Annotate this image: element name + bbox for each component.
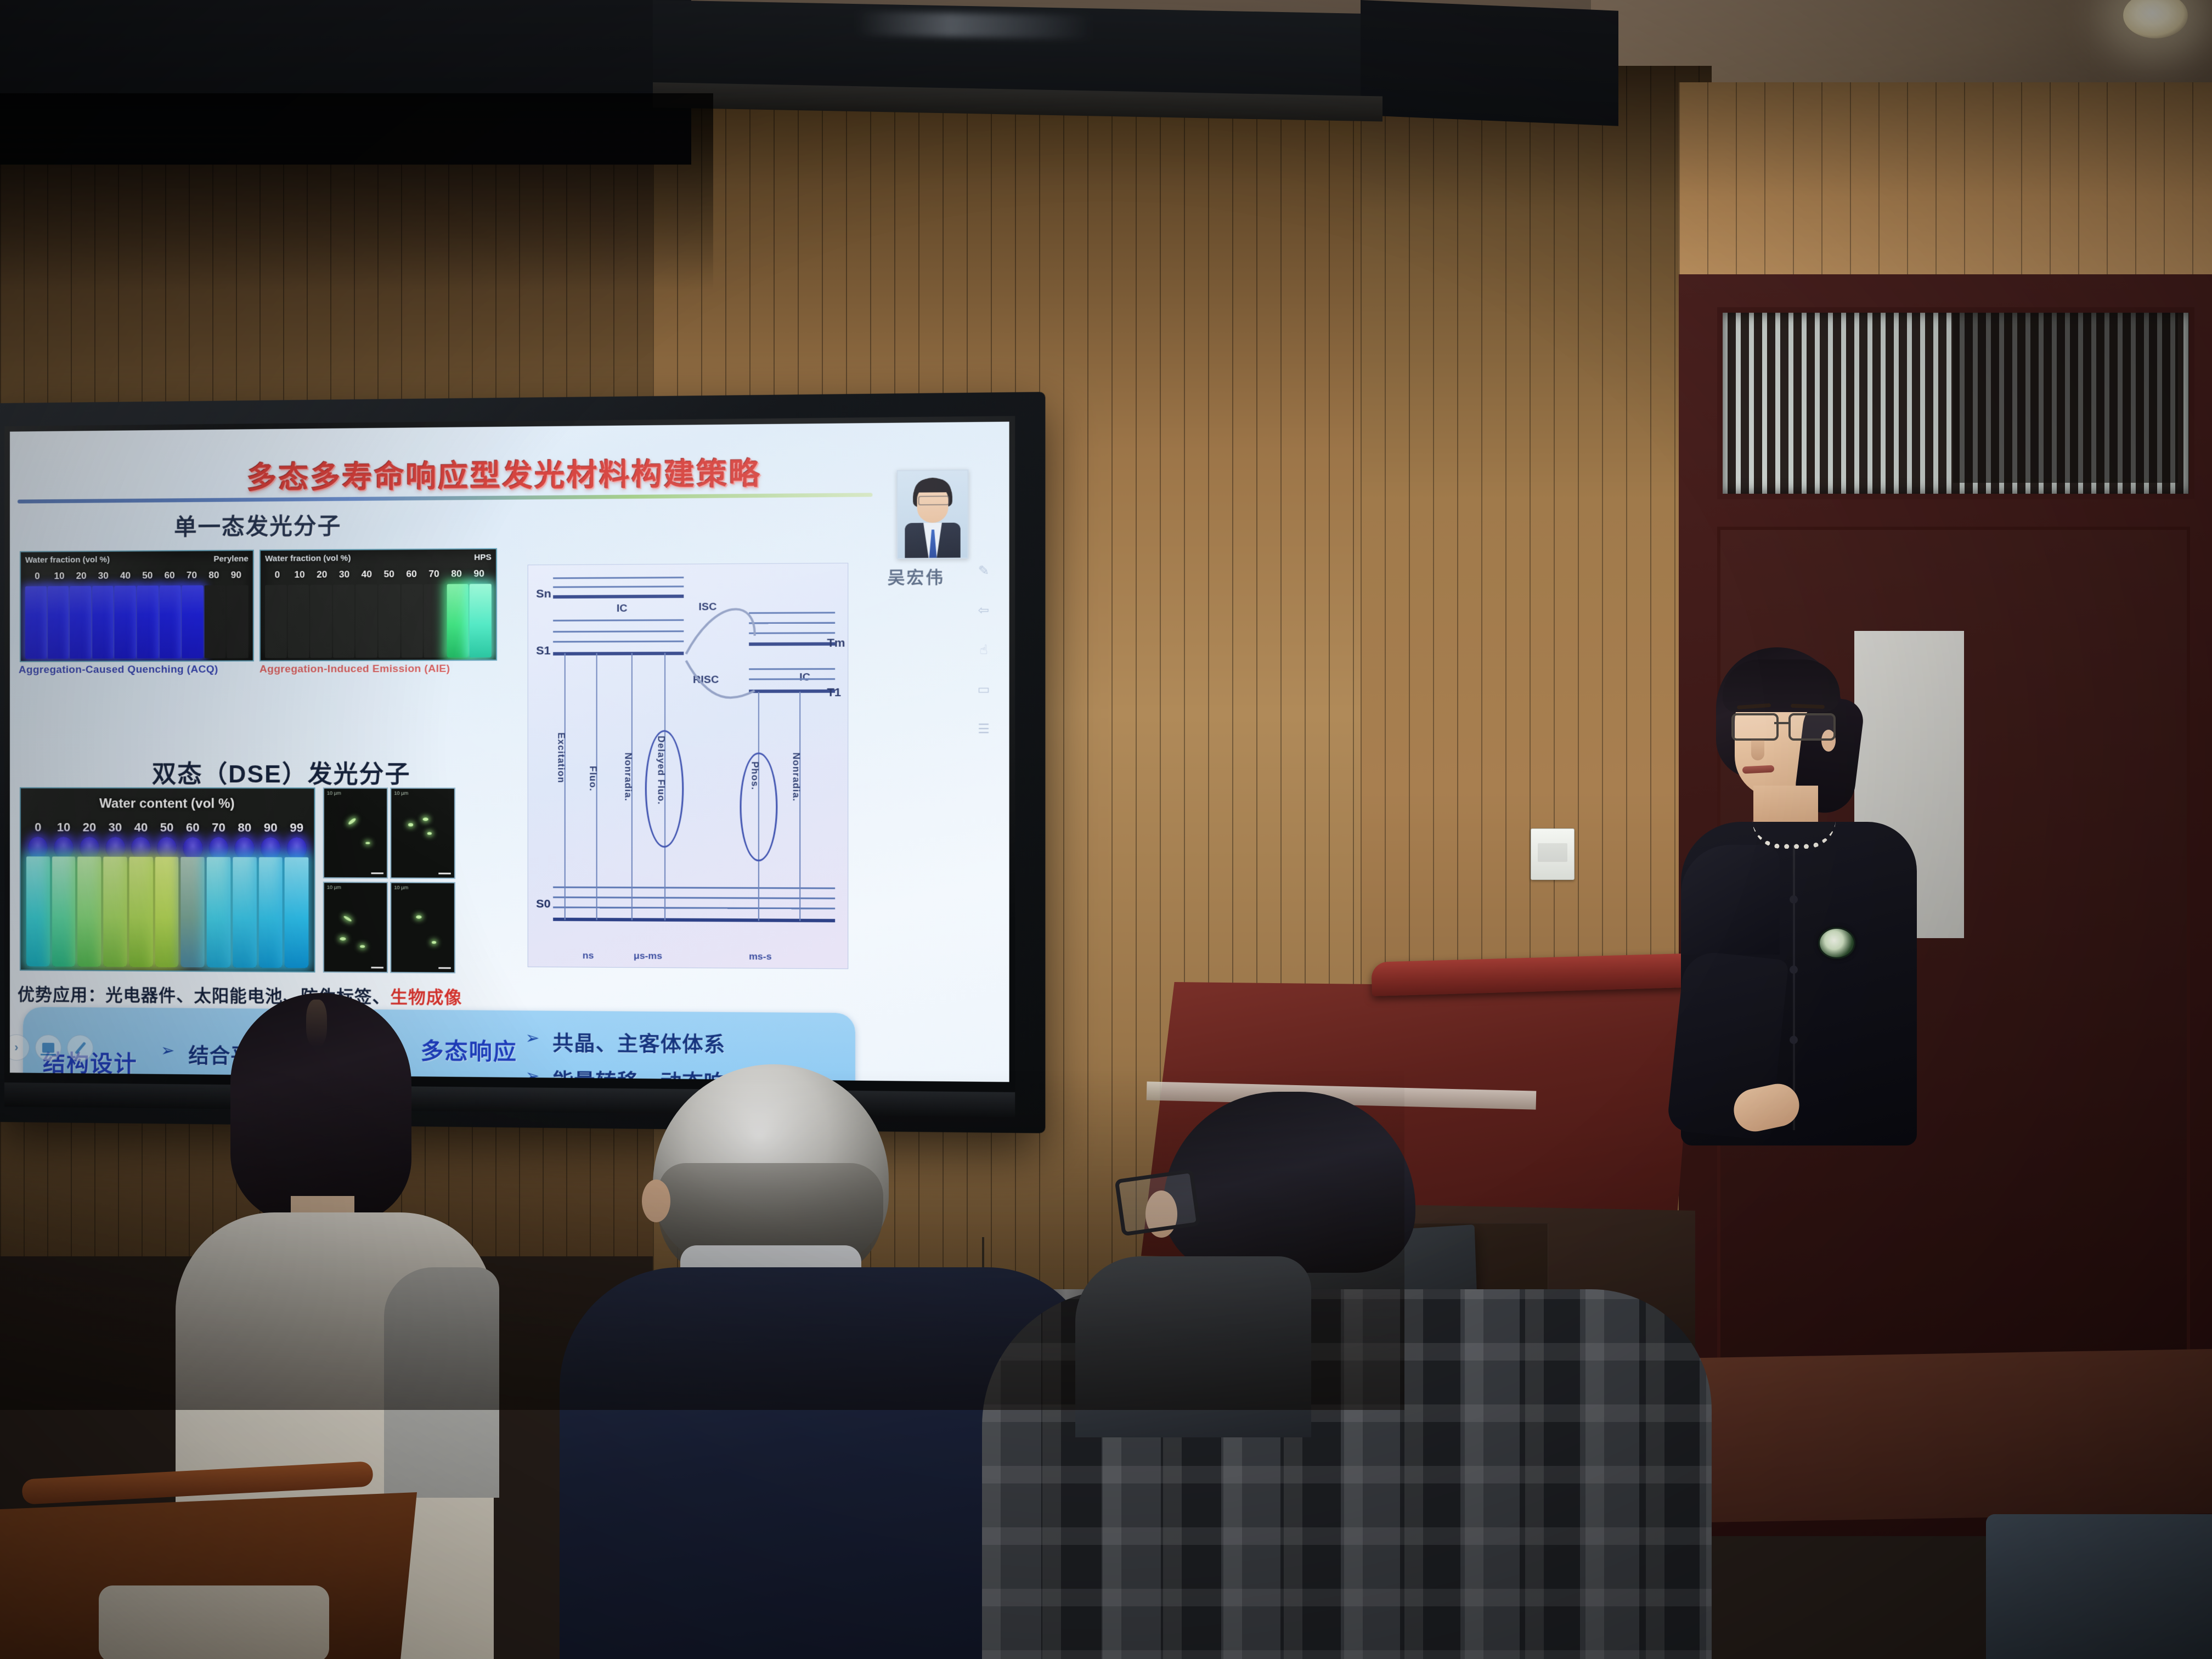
glasses-icon xyxy=(1731,713,1836,738)
acq-value: 30 xyxy=(92,571,114,582)
presenter-shoulder xyxy=(1681,845,1780,955)
aie-value-row: 0 10 20 30 40 50 60 70 80 90 xyxy=(261,568,496,581)
acq-cuvette-row xyxy=(21,585,253,659)
wall-shadow xyxy=(0,93,713,291)
section-heading-2: 双态（DSE）发光分子 xyxy=(152,754,411,790)
pen-icon[interactable]: ✎ xyxy=(975,563,992,578)
vial xyxy=(259,839,283,968)
dse-value: 0 xyxy=(25,820,51,834)
acq-value: 40 xyxy=(114,571,136,582)
scene-root: 多态多寿命响应型发光材料构建策略 单一态发光分子 Water fraction … xyxy=(0,0,2212,1659)
section-heading-1: 单一态发光分子 xyxy=(174,507,341,541)
vial xyxy=(207,839,230,968)
chair-right xyxy=(1986,1514,2212,1659)
floor-shadow xyxy=(0,1070,1404,1410)
micrograph-scale: 10 µm xyxy=(394,791,408,796)
dse-value: 10 xyxy=(51,820,77,834)
slide-title: 多态多寿命响应型发光材料构建策略 xyxy=(10,447,1009,499)
presenter-nose xyxy=(1751,740,1764,760)
smartboard-display[interactable]: 多态多寿命响应型发光材料构建策略 单一态发光分子 Water fraction … xyxy=(0,392,1045,1133)
dse-value: 90 xyxy=(258,821,284,835)
aie-header: Water fraction (vol %) xyxy=(265,554,351,563)
acq-value: 10 xyxy=(48,571,70,582)
summary-item-multistate-1: 共晶、主客体体系 xyxy=(552,1026,725,1058)
aie-sample-label: HPS xyxy=(474,552,492,562)
acq-sample-label: Perylene xyxy=(213,554,248,564)
micrograph-scale: 10 µm xyxy=(394,885,408,890)
vial xyxy=(78,839,101,967)
aie-value: 50 xyxy=(378,569,400,580)
highlight-phos xyxy=(740,753,777,862)
dse-value: 99 xyxy=(284,821,310,835)
presentation-slide: 多态多寿命响应型发光材料构建策略 单一态发光分子 Water fraction … xyxy=(10,422,1009,1082)
timescale-ms-s: ms-s xyxy=(749,951,771,963)
list-icon[interactable]: ☰ xyxy=(975,721,992,736)
board-floating-toolbar[interactable]: › xyxy=(10,1034,93,1061)
acq-value: 70 xyxy=(180,570,202,581)
aie-value: 40 xyxy=(356,569,378,580)
aie-value: 80 xyxy=(445,568,468,580)
dse-vial-photo: Water content (vol %) 0 10 20 30 40 50 6… xyxy=(20,787,315,973)
dse-header: Water content (vol %) xyxy=(21,796,314,812)
brooch xyxy=(1818,927,1855,959)
acq-caption: Aggregation-Caused Quenching (ACQ) xyxy=(19,664,218,676)
micrograph-3: 10 µm xyxy=(323,882,388,973)
aie-value: 20 xyxy=(311,569,333,580)
micrograph-4: 10 µm xyxy=(390,882,455,974)
slide-side-rail[interactable]: ✎ ⇦ ☝ ▭ ☰ xyxy=(969,563,999,800)
highlight-delayed-fluo xyxy=(645,730,684,848)
micrograph-1: 10 µm xyxy=(323,787,388,878)
pathway-excitation: Excitation xyxy=(555,732,567,783)
dse-value: 30 xyxy=(102,820,128,834)
dse-value-row: 0 10 20 30 40 50 60 70 80 90 99 xyxy=(21,820,314,835)
acq-value: 60 xyxy=(159,570,180,581)
chevron-right-icon[interactable]: › xyxy=(10,1034,30,1060)
dse-value: 50 xyxy=(154,821,180,835)
pathway-fluo: Fluo. xyxy=(587,766,599,791)
timescale-us-ms: μs-ms xyxy=(634,950,662,962)
dse-value: 70 xyxy=(206,821,232,835)
aie-photo-strip: Water fraction (vol %) HPS 0 10 20 30 40… xyxy=(259,548,497,661)
vial xyxy=(233,839,256,968)
bag-on-chair xyxy=(99,1585,329,1659)
attendee-hair-part xyxy=(306,1000,327,1047)
acq-value: 50 xyxy=(137,570,159,581)
aie-value: 60 xyxy=(400,569,423,580)
vial xyxy=(181,839,205,968)
vial xyxy=(285,839,308,968)
micrograph-scale: 10 µm xyxy=(327,884,341,890)
display-icon[interactable]: ▭ xyxy=(975,682,992,697)
acq-header: Water fraction (vol %) xyxy=(25,555,110,565)
pathway-nonradia-2: Nonradia. xyxy=(790,753,802,802)
person-name: 吴宏伟 xyxy=(888,563,945,589)
dse-value: 20 xyxy=(77,820,103,834)
acq-value: 0 xyxy=(26,571,48,582)
vial xyxy=(104,839,127,967)
dse-value: 60 xyxy=(180,821,206,835)
vial xyxy=(52,839,76,967)
vial xyxy=(129,839,153,967)
cursor-icon[interactable]: ☝ xyxy=(975,642,992,657)
presenter xyxy=(1635,647,1920,1141)
presenter-fringe xyxy=(1723,659,1840,712)
acq-value-row: 0 10 20 30 40 50 60 70 80 90 xyxy=(21,569,253,582)
light-switch[interactable] xyxy=(1531,828,1575,880)
aie-cuvette-row xyxy=(261,584,496,658)
dse-value: 40 xyxy=(128,820,154,834)
pen-icon[interactable] xyxy=(67,1035,93,1062)
vial xyxy=(155,839,179,967)
glasses-icon xyxy=(918,495,950,505)
avatar xyxy=(897,470,969,559)
vial xyxy=(26,839,50,966)
bullet-icon: ➢ xyxy=(161,1041,174,1060)
display-screen: 多态多寿命响应型发光材料构建策略 单一态发光分子 Water fraction … xyxy=(4,416,1015,1092)
micrograph-scale: 10 µm xyxy=(327,791,341,796)
bullet-icon: ➢ xyxy=(526,1029,540,1048)
whiteboard-icon[interactable] xyxy=(35,1035,61,1061)
micrograph-2: 10 µm xyxy=(390,788,455,879)
jablonski-diagram: Sn S1 IC ISC RISC IC Tm T1 xyxy=(528,563,849,969)
aie-value: 30 xyxy=(333,569,356,580)
soffit-right xyxy=(1361,0,1618,126)
dse-vial-row xyxy=(21,839,314,968)
aie-value: 90 xyxy=(468,568,490,580)
aie-caption: Aggregation-Induced Emission (AIE) xyxy=(259,663,450,676)
aie-value: 0 xyxy=(266,569,289,580)
dse-value: 80 xyxy=(232,821,257,835)
soffit-reflection xyxy=(856,11,1092,39)
acq-value: 80 xyxy=(203,570,225,581)
aie-value: 70 xyxy=(423,568,445,579)
acq-value: 20 xyxy=(70,571,92,582)
back-arrow-icon[interactable]: ⇦ xyxy=(975,603,992,618)
aie-value: 10 xyxy=(289,569,311,580)
transom-shadow xyxy=(1953,313,2178,483)
acq-photo-strip: Water fraction (vol %) Perylene 0 10 20 … xyxy=(20,550,254,662)
acq-value: 90 xyxy=(225,569,247,580)
timescale-ns: ns xyxy=(583,950,594,961)
pathway-nonradia-1: Nonradia. xyxy=(622,753,634,802)
